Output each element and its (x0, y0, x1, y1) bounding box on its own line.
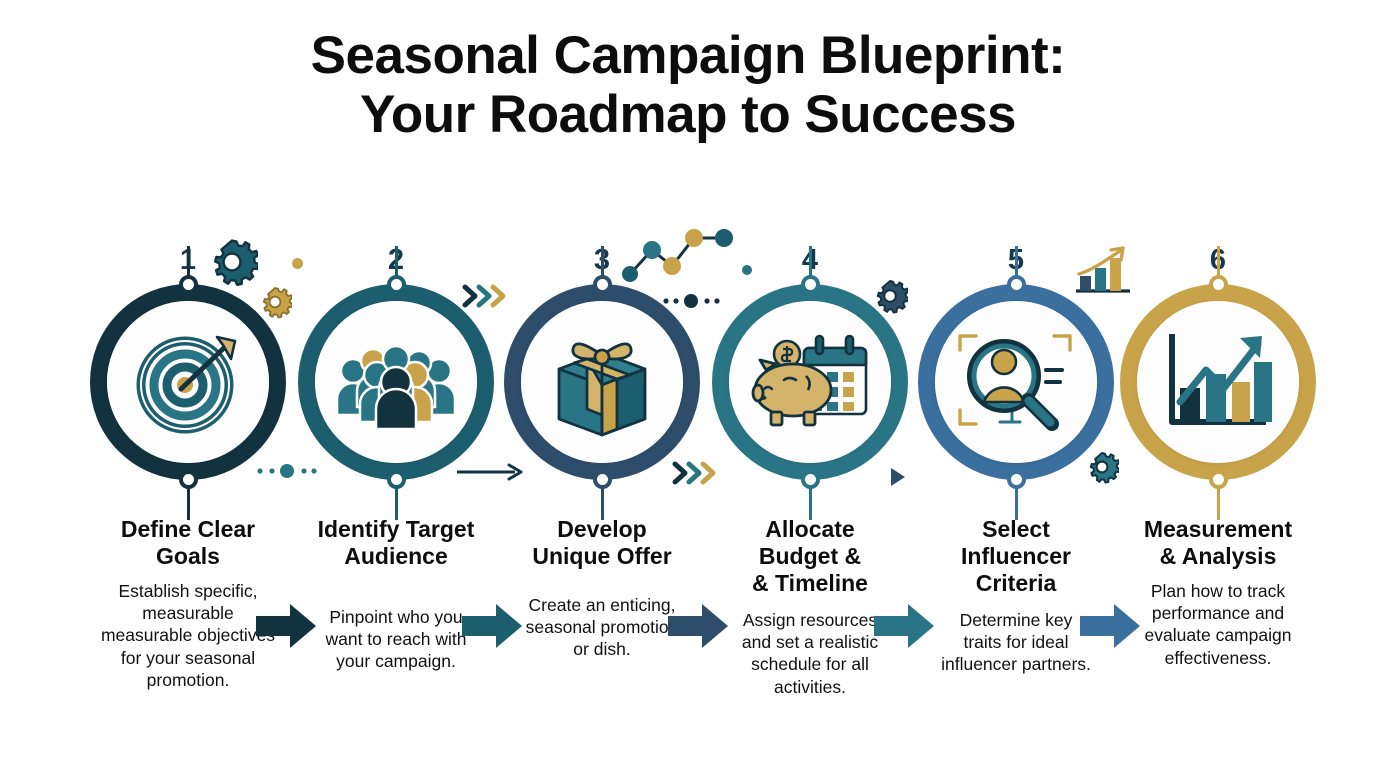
step-title: Select Influencer Criteria (902, 516, 1130, 597)
stem-up (601, 246, 604, 278)
stem-up (1217, 246, 1220, 278)
connector-arrow-5-6 (1080, 598, 1144, 654)
target-arrow-icon (120, 314, 256, 450)
steps-container: 1 Defi (0, 228, 1376, 748)
stem-up (1015, 246, 1018, 278)
stem-up (187, 246, 190, 278)
growth-bar-chart-icon (1150, 314, 1286, 450)
step-title-line: Goals (74, 543, 302, 570)
step-3[interactable]: 3 (498, 228, 706, 748)
step-circle[interactable] (1120, 284, 1316, 480)
step-title: Allocate Budget & & Timeline (696, 516, 924, 597)
step-title-line: Unique Offer (488, 543, 716, 570)
step-title-line: Define Clear (74, 516, 302, 543)
connector-arrow-1-2 (256, 598, 320, 654)
desc-line: promotion. (72, 669, 304, 691)
title-line-1: Seasonal Campaign Blueprint: (0, 26, 1376, 85)
connector-arrow-2-3 (462, 598, 526, 654)
stem-down (1217, 486, 1220, 520)
step-title-line: Develop (488, 516, 716, 543)
page-title: Seasonal Campaign Blueprint: Your Roadma… (0, 26, 1376, 145)
node-top (387, 275, 406, 294)
node-top (1007, 275, 1026, 294)
connector-arrow-3-4 (668, 598, 732, 654)
stem-down (601, 486, 604, 520)
stem-up (395, 246, 398, 278)
stem-up (809, 246, 812, 278)
step-circle[interactable] (712, 284, 908, 480)
node-top (1209, 275, 1228, 294)
step-title-line: Identify Target (282, 516, 510, 543)
desc-line: activities. (694, 676, 926, 698)
step-6[interactable]: 6 Measurement & Analys (1114, 228, 1322, 748)
stem-down (187, 486, 190, 520)
stem-down (395, 486, 398, 520)
step-title-line: Measurement (1104, 516, 1332, 543)
step-title-line: Influencer (902, 543, 1130, 570)
step-5[interactable]: 5 (912, 228, 1120, 748)
stem-down (1015, 486, 1018, 520)
step-circle[interactable] (918, 284, 1114, 480)
step-1[interactable]: 1 Defi (84, 228, 292, 748)
magnifier-person-icon (948, 314, 1084, 450)
step-title: Identify Target Audience (282, 516, 510, 570)
step-4[interactable]: 4 (706, 228, 914, 748)
step-title-line: Allocate (696, 516, 924, 543)
node-top (593, 275, 612, 294)
gift-box-icon (534, 314, 670, 450)
step-title-line: & Timeline (696, 570, 924, 597)
node-top (801, 275, 820, 294)
step-title: Measurement & Analysis (1104, 516, 1332, 570)
desc-line: schedule for all (694, 653, 926, 675)
title-line-2: Your Roadmap to Success (0, 85, 1376, 144)
piggy-bank-calendar-icon (742, 314, 878, 450)
step-title-line: Select (902, 516, 1130, 543)
step-title: Define Clear Goals (74, 516, 302, 570)
people-group-icon (328, 314, 464, 450)
step-circle[interactable] (504, 284, 700, 480)
step-circle[interactable] (298, 284, 494, 480)
step-title-line: Audience (282, 543, 510, 570)
step-title-line: & Analysis (1104, 543, 1332, 570)
desc-line: influencer partners. (900, 653, 1132, 675)
step-title-line: Budget & (696, 543, 924, 570)
stem-down (809, 486, 812, 520)
step-title-line: Criteria (902, 570, 1130, 597)
connector-arrow-4-5 (874, 598, 938, 654)
step-2[interactable]: 2 (292, 228, 500, 748)
step-title: Develop Unique Offer (488, 516, 716, 570)
step-circle[interactable] (90, 284, 286, 480)
node-top (179, 275, 198, 294)
